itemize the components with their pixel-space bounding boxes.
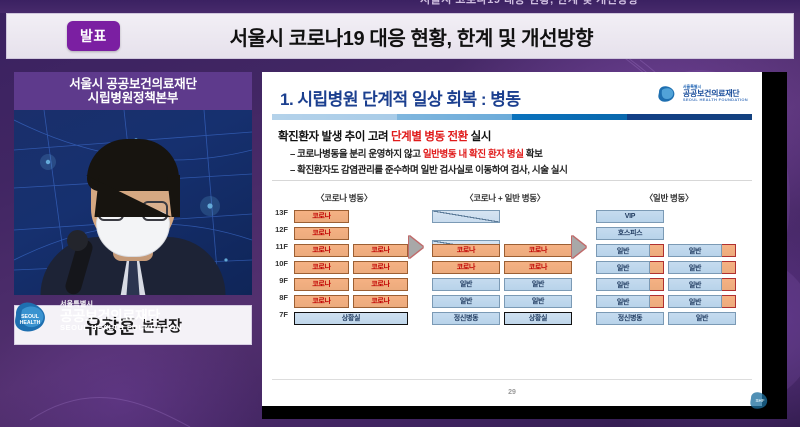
slide-bullet-2: – 확진환자도 감염관리를 준수하며 일반 검사실로 이동하여 검사, 시술 실… — [290, 162, 567, 176]
lead-pre: 확진환자 발생 추이 고려 — [278, 131, 391, 143]
ward-cell-general-ward-10f-right: 일반 — [668, 261, 736, 274]
bullet-1-post: 확보 — [524, 149, 543, 160]
ward-cell-label: 일반 — [596, 295, 650, 308]
bullet-1-pre: – 코로나병동을 분리 운영하지 않고 — [290, 149, 423, 160]
column-header-corona-ward: 〈코로나 병동〉 — [284, 192, 404, 204]
floor-label-7f: 7F — [272, 310, 288, 319]
ward-cell-general-ward-7f-right: 일반 — [668, 312, 736, 325]
ward-cell-mixed-ward-10f-left: 코로나 — [432, 261, 500, 274]
foundation-logo-text: 서울특별시 공공보건의료재단 SEOUL HEALTH FOUNDATION — [60, 301, 182, 332]
confirmed-patient-room-marker — [650, 244, 664, 257]
slide-footer-rule — [272, 379, 752, 380]
slide-logo-line3: SEOUL HEALTH FOUNDATION — [683, 98, 748, 102]
ward-cell-corona-ward-12f-left: 코로나 — [294, 227, 349, 240]
confirmed-patient-room-marker — [650, 278, 664, 291]
ward-cell-label: 일반 — [668, 278, 722, 291]
ward-cell-general-ward-11f-right: 일반 — [668, 244, 736, 257]
ward-cell-mixed-ward-11f-left: 코로나 — [432, 244, 500, 257]
speaker-org-line2: 시립병원정책본부 — [88, 91, 178, 105]
floor-label-8f: 8F — [272, 293, 288, 302]
ward-cell-label: 일반 — [668, 261, 722, 274]
gradient-segment-3 — [512, 114, 627, 120]
ward-cell-label: 일반 — [668, 295, 722, 308]
floor-label-9f: 9F — [272, 276, 288, 285]
confirmed-patient-room-marker — [722, 244, 736, 257]
ward-cell-general-ward-8f-right: 일반 — [668, 295, 736, 308]
ward-cell-label: 일반 — [596, 244, 650, 257]
speaker-panel: 서울시 공공보건의료재단 시립병원정책본부 — [14, 72, 252, 419]
slide-bullet-1: – 코로나병동을 분리 운영하지 않고 일반병동 내 확진 환자 병실 확보 — [290, 146, 542, 160]
confirmed-patient-room-marker — [722, 295, 736, 308]
confirmed-patient-room-marker — [650, 295, 664, 308]
ward-cell-general-ward-8f-left: 일반 — [596, 295, 664, 308]
floor-label-12f: 12F — [272, 225, 288, 234]
slide-video-frame: 1. 시립병원 단계적 일상 회복 : 병동 서울특별시 공공보건의료재단 SE… — [262, 72, 787, 419]
confirmed-patient-room-marker — [650, 261, 664, 274]
ward-cell-general-ward-13f-left: VIP — [596, 210, 664, 223]
foundation-logo-line3: SEOUL HEALTH FOUNDATION — [60, 324, 182, 332]
gradient-segment-4 — [627, 114, 752, 120]
ward-cell-general-ward-11f-left: 일반 — [596, 244, 664, 257]
slide-lead-statement: 확진환자 발생 추이 고려 단계별 병동 전환 실시 — [278, 128, 491, 144]
ward-cell-mixed-ward-11f-right: 코로나 — [504, 244, 572, 257]
slide-logo-text: 서울특별시 공공보건의료재단 SEOUL HEALTH FOUNDATION — [683, 85, 748, 102]
ward-cell-corona-ward-9f-left: 코로나 — [294, 278, 349, 291]
ward-cell-general-ward-7f-left: 정신병동 — [596, 312, 664, 325]
ward-cell-mixed-ward-10f-right: 코로나 — [504, 261, 572, 274]
svg-text:HEALTH: HEALTH — [20, 320, 41, 326]
microphone-head-icon — [67, 230, 88, 251]
ward-cell-mixed-ward-13f-left — [432, 210, 500, 223]
ward-cell-corona-ward-10f-left: 코로나 — [294, 261, 349, 274]
gradient-segment-2 — [397, 114, 512, 120]
ward-cell-corona-ward-8f-left: 코로나 — [294, 295, 349, 308]
header-bar: 발표 서울시 코로나19 대응 현황, 한계 및 개선방향 — [6, 13, 794, 59]
ward-cell-corona-ward-11f-left: 코로나 — [294, 244, 349, 257]
ward-cell-mixed-ward-7f-right: 상황실 — [504, 312, 572, 325]
ward-cell-mixed-ward-7f-left: 정신병동 — [432, 312, 500, 325]
ward-cell-label: 일반 — [668, 244, 722, 257]
ward-cell-corona-ward-13f-left: 코로나 — [294, 210, 349, 223]
bullet-2-pre: – 확진환자도 감염관리를 준수하며 일반 검사실로 이동하여 검사, 시술 실… — [290, 165, 567, 176]
page-title: 서울시 코로나19 대응 현황, 한계 및 개선방향 — [120, 22, 703, 51]
ward-cell-label: 일반 — [596, 278, 650, 291]
floor-label-10f: 10F — [272, 259, 288, 268]
ward-cell-general-ward-10f-left: 일반 — [596, 261, 664, 274]
slide-foundation-logo: 서울특별시 공공보건의료재단 SEOUL HEALTH FOUNDATION — [656, 84, 748, 104]
svg-text:SHF: SHF — [756, 398, 765, 403]
speaker-portrait — [33, 145, 233, 295]
lead-post: 실시 — [468, 131, 491, 143]
column-header-general-ward: 〈일반 병동〉 — [594, 192, 744, 204]
floor-label-13f: 13F — [272, 208, 288, 217]
ward-cell-mixed-ward-8f-right: 일반 — [504, 295, 572, 308]
slide-page-number: 29 — [262, 389, 762, 396]
speaker-video-feed — [14, 110, 252, 295]
lead-highlight: 단계별 병동 전환 — [391, 131, 468, 143]
slide-seoul-health-mark-icon — [656, 84, 678, 104]
ward-conversion-diagram: 〈코로나 병동〉 〈코로나 + 일반 병동〉 〈일반 병동〉 13F12F11F… — [262, 184, 762, 374]
slide-gradient-divider — [272, 114, 752, 120]
ward-cell-general-ward-9f-left: 일반 — [596, 278, 664, 291]
floor-label-11f: 11F — [272, 242, 288, 251]
transition-arrow-1-icon — [409, 236, 423, 258]
bullet-1-highlight: 일반병동 내 확진 환자 병실 — [423, 149, 524, 160]
speaker-organization-band: 서울시 공공보건의료재단 시립병원정책본부 — [14, 72, 252, 110]
ward-cell-corona-ward-7f-left: 상황실 — [294, 312, 408, 325]
ward-cell-corona-ward-8f-right: 코로나 — [353, 295, 408, 308]
ward-cell-corona-ward-9f-right: 코로나 — [353, 278, 408, 291]
ward-cell-mixed-ward-9f-right: 일반 — [504, 278, 572, 291]
transition-arrow-2-icon — [572, 236, 586, 258]
confirmed-patient-room-marker — [722, 278, 736, 291]
broadcast-watermark-icon: SHF — [747, 389, 773, 411]
ward-cell-corona-ward-10f-right: 코로나 — [353, 261, 408, 274]
ward-cell-mixed-ward-9f-left: 일반 — [432, 278, 500, 291]
top-strip-clipped-title: 서울시 코로나19 대응 현황, 한계 및 개선방향 — [420, 0, 639, 7]
speaker-org-line1: 서울시 공공보건의료재단 — [69, 77, 197, 91]
gradient-segment-1 — [272, 114, 397, 120]
foundation-logo-line2: 공공보건의료재단 — [60, 309, 182, 324]
seoul-health-mark-icon: SEOUL HEALTH — [10, 298, 52, 336]
presentation-badge: 발표 — [67, 21, 120, 51]
confirmed-patient-room-marker — [722, 261, 736, 274]
foundation-logo: SEOUL HEALTH 서울특별시 공공보건의료재단 SEOUL HEALTH… — [10, 298, 182, 336]
presentation-slide: 1. 시립병원 단계적 일상 회복 : 병동 서울특별시 공공보건의료재단 SE… — [262, 72, 762, 406]
ward-cell-general-ward-9f-right: 일반 — [668, 278, 736, 291]
slide-horizontal-rule — [272, 180, 752, 181]
ward-cell-label: 일반 — [596, 261, 650, 274]
ward-cell-corona-ward-11f-right: 코로나 — [353, 244, 408, 257]
slide-title: 1. 시립병원 단계적 일상 회복 : 병동 — [280, 85, 521, 110]
column-header-mixed-ward: 〈코로나 + 일반 병동〉 — [430, 192, 580, 204]
ward-cell-general-ward-12f-left: 호스피스 — [596, 227, 664, 240]
ward-cell-mixed-ward-8f-left: 일반 — [432, 295, 500, 308]
top-clipped-strip: 서울시 코로나19 대응 현황, 한계 및 개선방향 — [0, 0, 800, 13]
